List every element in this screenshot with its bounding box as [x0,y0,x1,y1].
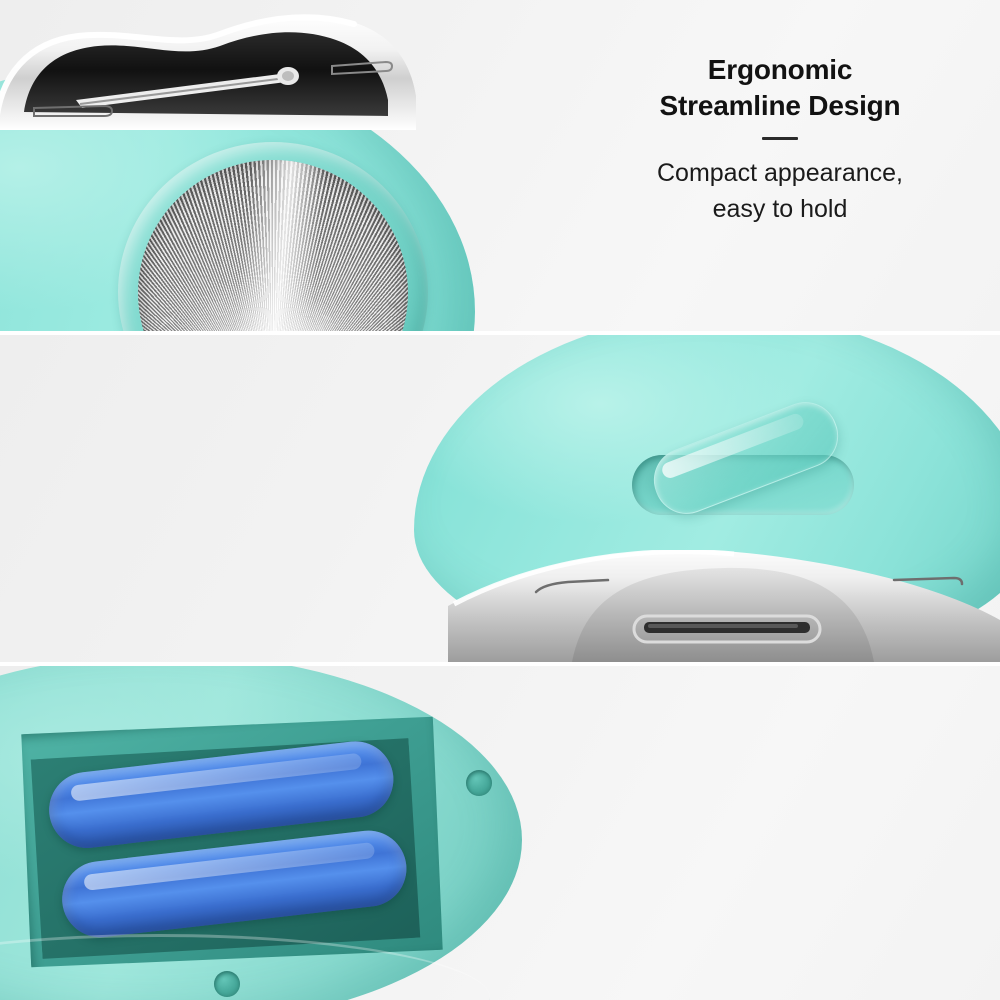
clipper-base-icon [448,550,1000,662]
feature-text-panel-1: Ergonomic Streamline Design Compact appe… [560,52,1000,227]
screw-hole-icon [466,770,492,796]
product-image-panel-1 [0,0,560,331]
product-image-panel-2 [0,335,1000,662]
panel-1-body: Compact appearance, easy to hold [560,155,1000,228]
panel-1-headline: Ergonomic Streamline Design [560,52,1000,124]
clipper-lever-icon [0,4,450,134]
battery-compartment [13,702,451,982]
feature-panel-battery: AAA Battery Powered No constant charging… [0,666,1000,1000]
feature-panel-ergonomic: Ergonomic Streamline Design Compact appe… [0,0,1000,331]
screw-hole-icon [214,971,240,997]
panel-divider-2 [0,662,1000,666]
brushed-metal-disc-icon [138,160,408,331]
panel-divider-1 [0,331,1000,335]
infographic-sheet: Ergonomic Streamline Design Compact appe… [0,0,1000,1000]
chrome-clipper-base [448,550,1000,662]
product-image-panel-3 [0,666,540,1000]
chrome-clipper-lever [0,4,450,134]
headline-rule-icon [762,137,798,140]
feature-panel-debris-container: Nail Debris Container Prevent nail piece… [0,335,1000,662]
